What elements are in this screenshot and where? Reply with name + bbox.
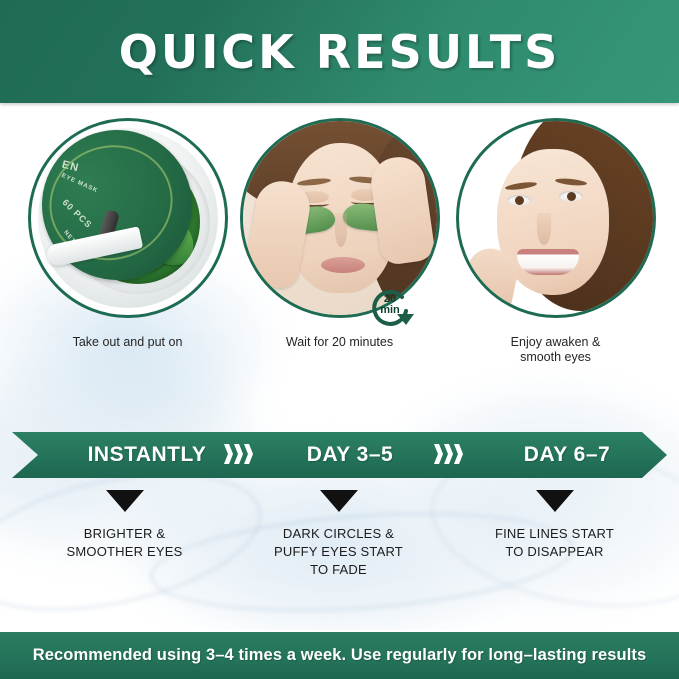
- result-2-line1: DARK CIRCLES &: [231, 525, 446, 543]
- triangle-down-icon: [106, 490, 144, 512]
- timer-badge: 20 min: [362, 281, 418, 337]
- result-2: DARK CIRCLES & PUFFY EYES START TO FADE: [231, 490, 446, 579]
- timeline-label-day-3-5: DAY 3–5: [270, 443, 430, 467]
- result-2-line3: TO FADE: [231, 561, 446, 579]
- header-banner: QUICK RESULTS: [0, 0, 679, 103]
- result-1: BRIGHTER & SMOOTHER EYES: [17, 490, 232, 561]
- timer-unit: min: [362, 305, 418, 316]
- lid-label-text: 60 PCS: [60, 197, 94, 230]
- result-3-line2: TO DISAPPEAR: [447, 543, 662, 561]
- result-1-line2: SMOOTHER EYES: [17, 543, 232, 561]
- step-3-caption-line1: Enjoy awaken &: [448, 335, 663, 350]
- step-2-caption: Wait for 20 minutes: [232, 335, 447, 350]
- triangle-down-icon: [536, 490, 574, 512]
- step-3-caption: Enjoy awaken & smooth eyes: [448, 335, 663, 365]
- result-1-text: BRIGHTER & SMOOTHER EYES: [17, 525, 232, 561]
- lips: [321, 257, 365, 273]
- results-section: BRIGHTER & SMOOTHER EYES DARK CIRCLES & …: [0, 490, 679, 610]
- result-1-line1: BRIGHTER &: [17, 525, 232, 543]
- footer-text: Recommended using 3–4 times a week. Use …: [33, 646, 647, 665]
- lid-label-text: EN: [60, 159, 80, 175]
- result-3: FINE LINES START TO DISAPPEAR: [447, 490, 662, 561]
- nose: [335, 213, 347, 247]
- footer-banner: Recommended using 3–4 times a week. Use …: [0, 632, 679, 679]
- step-3-caption-line2: smooth eyes: [448, 350, 663, 365]
- page-title: QUICK RESULTS: [119, 25, 561, 79]
- chevron-right-icon: [224, 444, 253, 464]
- timeline-banner: INSTANTLY DAY 3–5 DAY 6–7: [12, 432, 667, 478]
- lid-label-text: EYE MASK: [59, 173, 98, 195]
- infographic-page: QUICK RESULTS: [0, 0, 679, 679]
- steps-section: EN EYE MASK 60 PCS NET Take out and put …: [0, 118, 679, 388]
- timer-text: 20 min: [362, 294, 418, 316]
- result-2-line2: PUFFY EYES START: [231, 543, 446, 561]
- smile: [517, 249, 579, 275]
- timeline-label-day-6-7: DAY 6–7: [482, 443, 652, 467]
- jar-illustration: EN EYE MASK 60 PCS NET: [38, 128, 218, 308]
- step-1: EN EYE MASK 60 PCS NET Take out and put …: [20, 118, 235, 350]
- result-2-text: DARK CIRCLES & PUFFY EYES START TO FADE: [231, 525, 446, 579]
- result-3-line1: FINE LINES START: [447, 525, 662, 543]
- nose: [537, 213, 551, 245]
- timeline-label-instantly: INSTANTLY: [52, 443, 242, 467]
- step-1-image: EN EYE MASK 60 PCS NET: [28, 118, 228, 318]
- triangle-down-icon: [320, 490, 358, 512]
- step-3: Enjoy awaken & smooth eyes: [448, 118, 663, 365]
- pupil-left: [515, 196, 524, 205]
- result-3-text: FINE LINES START TO DISAPPEAR: [447, 525, 662, 561]
- step-3-image: [456, 118, 656, 318]
- chevron-right-icon: [434, 444, 463, 464]
- pupil-right: [567, 192, 576, 201]
- step-1-caption: Take out and put on: [20, 335, 235, 350]
